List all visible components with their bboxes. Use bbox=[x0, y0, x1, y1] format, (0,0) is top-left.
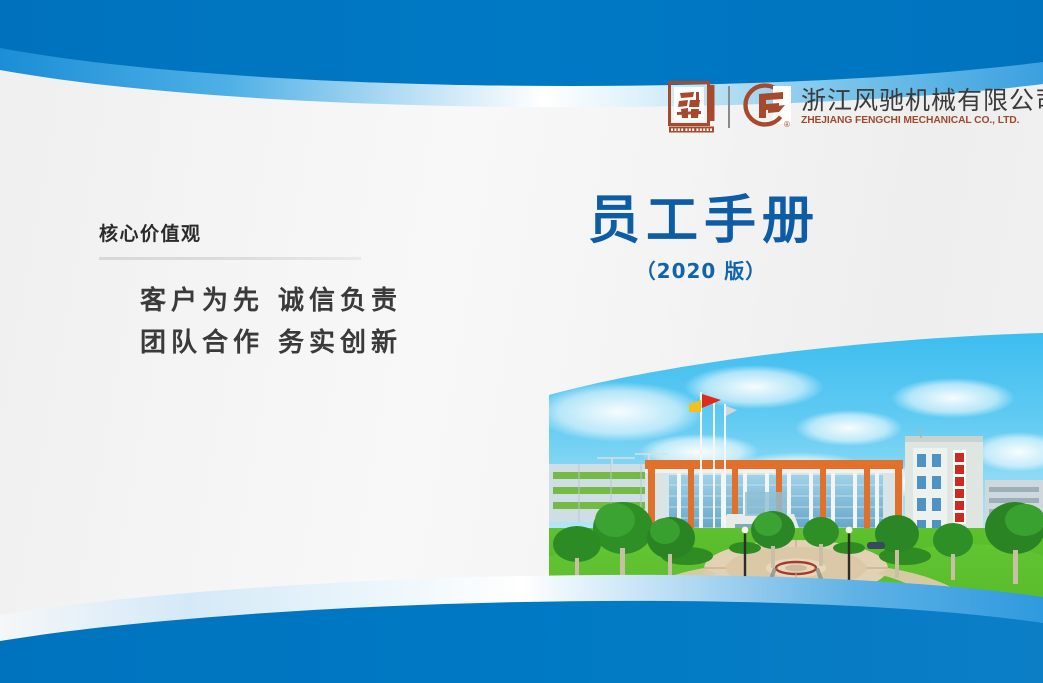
company-name-block: 浙江风驰机械有限公司 ZHEJIANG FENGCHI MECHANICAL C… bbox=[801, 87, 1043, 127]
company-seal-stamp-icon bbox=[668, 81, 716, 133]
page-subtitle: （2020 版） bbox=[556, 259, 846, 283]
company-name-en: ZHEJIANG FENGCHI MECHANICAL CO., LTD. bbox=[801, 114, 1043, 127]
core-values-divider bbox=[99, 257, 361, 260]
core-values-line-1: 客户为先 诚信负责 bbox=[99, 280, 402, 322]
page-title: 员工手册 bbox=[556, 192, 846, 250]
fengchi-f-monogram-icon: ® bbox=[743, 83, 791, 131]
core-values-block: 核心价值观 客户为先 诚信负责 团队合作 务实创新 bbox=[99, 222, 429, 364]
company-campus-photo bbox=[549, 332, 1043, 630]
cover-page: ® 浙江风驰机械有限公司 ZHEJIANG FENGCHI MECHANICAL… bbox=[0, 0, 1043, 683]
campus-photo-artwork bbox=[549, 332, 1043, 630]
registered-mark-glyph: ® bbox=[784, 120, 790, 129]
core-values-heading: 核心价值观 bbox=[99, 222, 429, 246]
company-name-cn: 浙江风驰机械有限公司 bbox=[801, 87, 1043, 114]
handbook-title-block: 员工手册 （2020 版） bbox=[556, 192, 846, 283]
core-values-list: 客户为先 诚信负责 团队合作 务实创新 bbox=[99, 280, 402, 364]
core-values-line-2: 团队合作 务实创新 bbox=[99, 322, 402, 364]
logo-divider bbox=[728, 86, 730, 128]
company-logo-lockup: ® 浙江风驰机械有限公司 ZHEJIANG FENGCHI MECHANICAL… bbox=[668, 78, 1043, 136]
